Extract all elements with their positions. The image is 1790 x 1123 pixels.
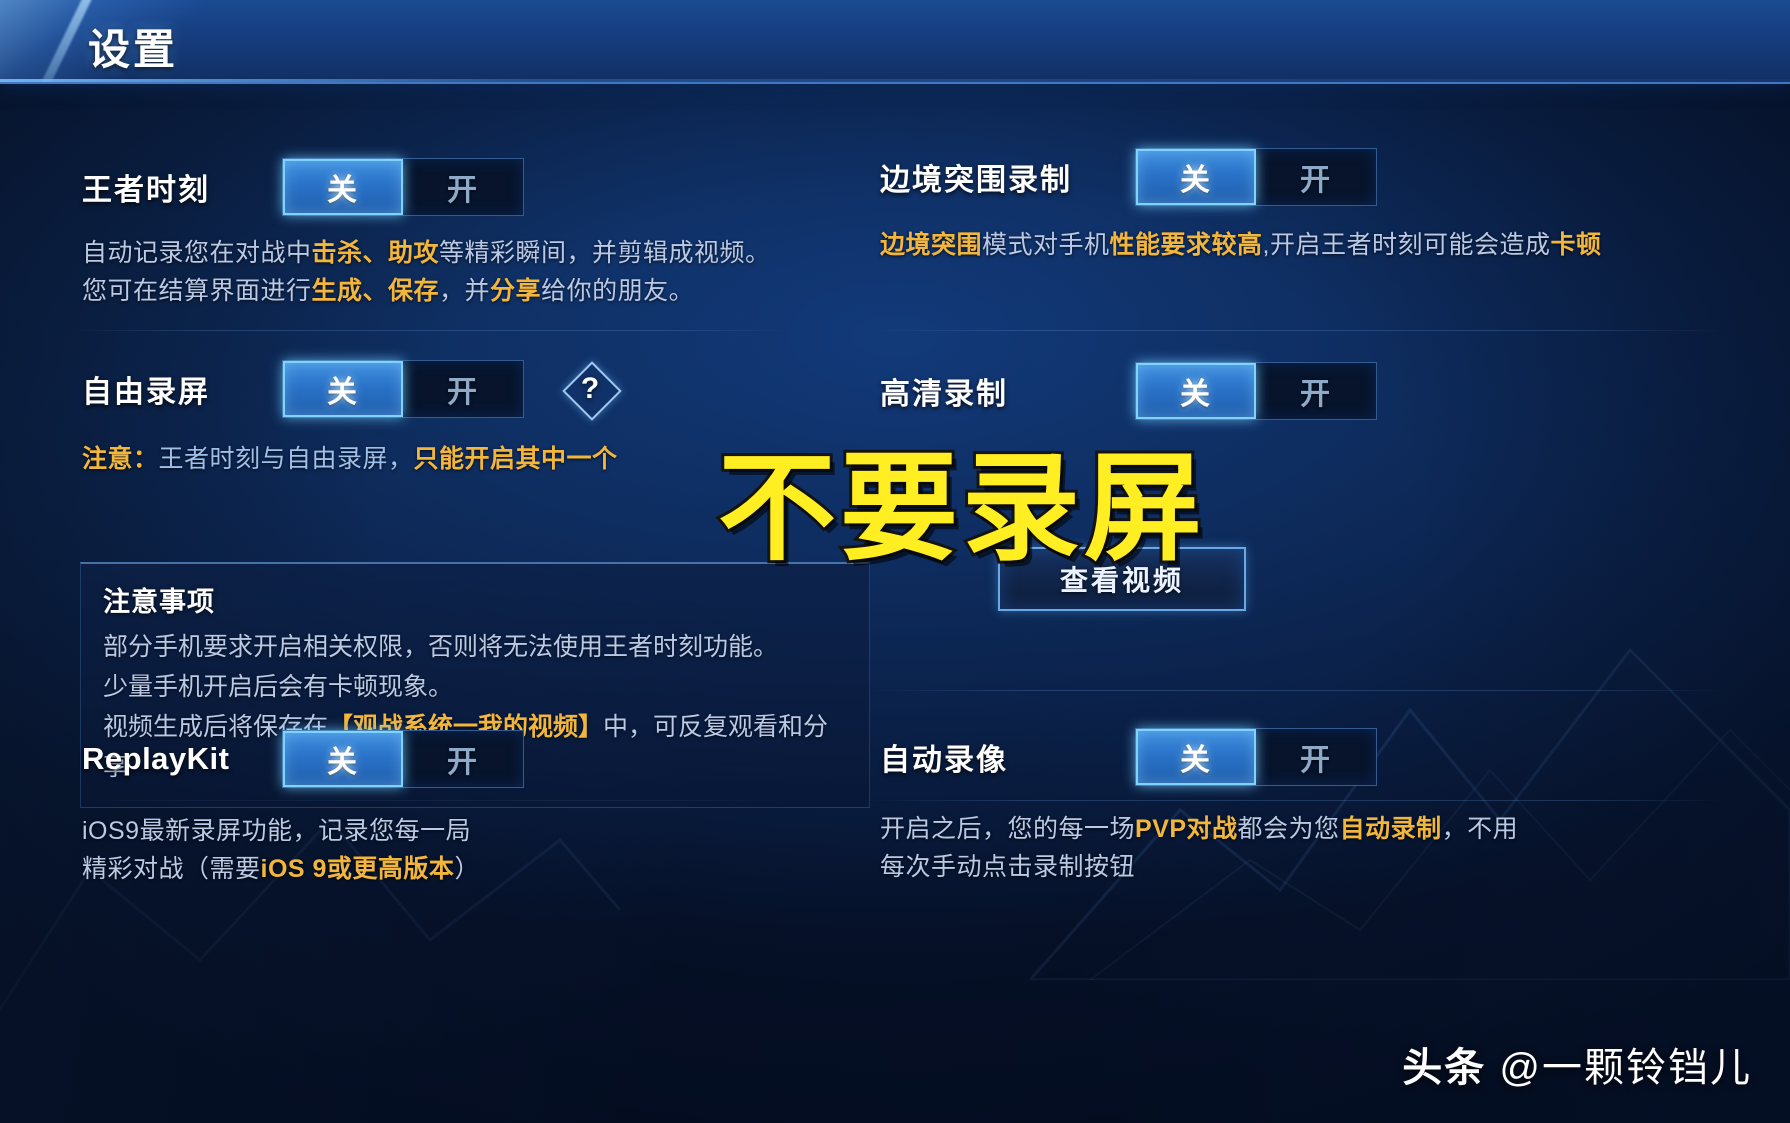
kings-moment-label: 王者时刻 <box>82 165 282 209</box>
overlay-annotation-text: 不要录屏 <box>718 412 1206 583</box>
desc-highlight: 分享 <box>490 277 541 305</box>
desc-text: 您可在结算界面进行 <box>82 277 312 305</box>
desc-text: 开启之后，您的每一场 <box>880 815 1135 843</box>
free-screen-record-toggle-on[interactable]: 开 <box>403 361 523 417</box>
help-question-icon[interactable]: ? <box>564 363 616 415</box>
auto-record-toggle-on[interactable]: 开 <box>1256 729 1376 785</box>
setting-auto-record: 自动录像 关 开 开启之后，您的每一场PVP对战都会为您自动录制，不用 每次手动… <box>880 728 1680 886</box>
border-breakout-toggle[interactable]: 关 开 <box>1135 148 1377 206</box>
setting-kings-moment: 王者时刻 关 开 自动记录您在对战中击杀、助攻等精彩瞬间，并剪辑成视频。 您可在… <box>82 158 842 310</box>
desc-highlight: 边境突围 <box>880 231 982 259</box>
desc-text: 自动记录您在对战中 <box>82 239 312 267</box>
notice-title: 注意事项 <box>103 580 847 619</box>
kings-moment-description: 自动记录您在对战中击杀、助攻等精彩瞬间，并剪辑成视频。 您可在结算界面进行生成、… <box>82 234 842 310</box>
replaykit-description: iOS9最新录屏功能，记录您每一局 精彩对战（需要iOS 9或更高版本） <box>82 812 524 888</box>
free-screen-record-toggle[interactable]: 关 开 <box>282 360 524 418</box>
game-settings-screen: 设置 王者时刻 关 开 自动记录您在对战中击杀、助攻等精彩瞬间，并剪辑成视频。 … <box>0 0 1790 1123</box>
border-breakout-toggle-on[interactable]: 开 <box>1256 149 1376 205</box>
free-screen-record-warning: 注意：王者时刻与自由录屏，只能开启其中一个 <box>82 440 618 478</box>
replaykit-label: ReplayKit <box>82 741 282 777</box>
desc-text: 精彩对战（需要 <box>82 855 261 883</box>
notice-line-2: 少量手机开启后会有卡顿现象。 <box>103 667 847 707</box>
watermark-handle: @一颗铃铛儿 <box>1499 1046 1752 1090</box>
desc-text: ，并 <box>439 277 490 305</box>
border-breakout-toggle-off[interactable]: 关 <box>1136 149 1256 205</box>
border-breakout-label: 边境突围录制 <box>880 155 1135 199</box>
page-title: 设置 <box>88 16 178 77</box>
replaykit-toggle-on[interactable]: 开 <box>403 731 523 787</box>
replaykit-toggle[interactable]: 关 开 <box>282 730 524 788</box>
auto-record-description: 开启之后，您的每一场PVP对战都会为您自动录制，不用 每次手动点击录制按钮 <box>880 810 1680 886</box>
row-separator <box>868 690 1728 691</box>
hd-record-toggle-off[interactable]: 关 <box>1136 363 1256 419</box>
desc-text: 都会为您 <box>1238 815 1340 843</box>
kings-moment-toggle-on[interactable]: 开 <box>403 159 523 215</box>
free-screen-record-toggle-off[interactable]: 关 <box>283 361 403 417</box>
setting-border-breakout-record: 边境突围录制 关 开 边境突围模式对手机性能要求较高,开启王者时刻可能会造成卡顿 <box>880 148 1670 264</box>
auto-record-label: 自动录像 <box>880 735 1135 779</box>
auto-record-toggle-off[interactable]: 关 <box>1136 729 1256 785</box>
desc-text: 给你的朋友。 <box>541 277 694 305</box>
watermark: 头条 @一颗铃铛儿 <box>1402 1035 1752 1093</box>
desc-highlight: PVP对战 <box>1135 815 1238 843</box>
warning-middle: 王者时刻与自由录屏， <box>159 445 414 473</box>
kings-moment-toggle[interactable]: 关 开 <box>282 158 524 216</box>
desc-highlight: 卡顿 <box>1551 231 1602 259</box>
desc-text: ） <box>454 855 480 883</box>
desc-text: ，不用 <box>1442 815 1519 843</box>
free-screen-record-label: 自由录屏 <box>82 367 282 411</box>
desc-highlight: 击杀、助攻 <box>312 239 440 267</box>
desc-text: 模式对手机 <box>982 231 1110 259</box>
border-breakout-description: 边境突围模式对手机性能要求较高,开启王者时刻可能会造成卡顿 <box>880 226 1670 264</box>
warning-prefix: 注意： <box>82 445 159 473</box>
row-separator <box>868 330 1728 331</box>
notice-line-1: 部分手机要求开启相关权限，否则将无法使用王者时刻功能。 <box>103 627 847 667</box>
warning-suffix: 只能开启其中一个 <box>414 445 618 473</box>
replaykit-toggle-off[interactable]: 关 <box>283 731 403 787</box>
setting-free-screen-record: 自由录屏 关 开 ? 注意：王者时刻与自由录屏，只能开启其中一个 <box>82 360 618 478</box>
desc-text: 每次手动点击录制按钮 <box>880 848 1680 886</box>
watermark-brand: 头条 <box>1402 1046 1486 1090</box>
auto-record-toggle[interactable]: 关 开 <box>1135 728 1377 786</box>
desc-text: ,开启王者时刻可能会造成 <box>1263 231 1551 259</box>
header-bottom-line <box>0 79 1790 82</box>
row-separator <box>70 330 790 331</box>
desc-text: 等精彩瞬间，并剪辑成视频。 <box>439 239 771 267</box>
desc-highlight: 生成、保存 <box>312 277 440 305</box>
page-header: 设置 <box>0 0 1790 84</box>
desc-text: iOS9最新录屏功能，记录您每一局 <box>82 812 524 850</box>
hd-record-toggle-on[interactable]: 开 <box>1256 363 1376 419</box>
desc-highlight: 自动录制 <box>1340 815 1442 843</box>
desc-highlight: iOS 9或更高版本 <box>261 855 455 883</box>
kings-moment-toggle-off[interactable]: 关 <box>283 159 403 215</box>
desc-highlight: 性能要求较高 <box>1110 231 1263 259</box>
setting-replaykit: ReplayKit 关 开 iOS9最新录屏功能，记录您每一局 精彩对战（需要i… <box>82 730 524 888</box>
hd-record-label: 高清录制 <box>880 369 1135 413</box>
help-icon-glyph: ? <box>581 372 599 406</box>
